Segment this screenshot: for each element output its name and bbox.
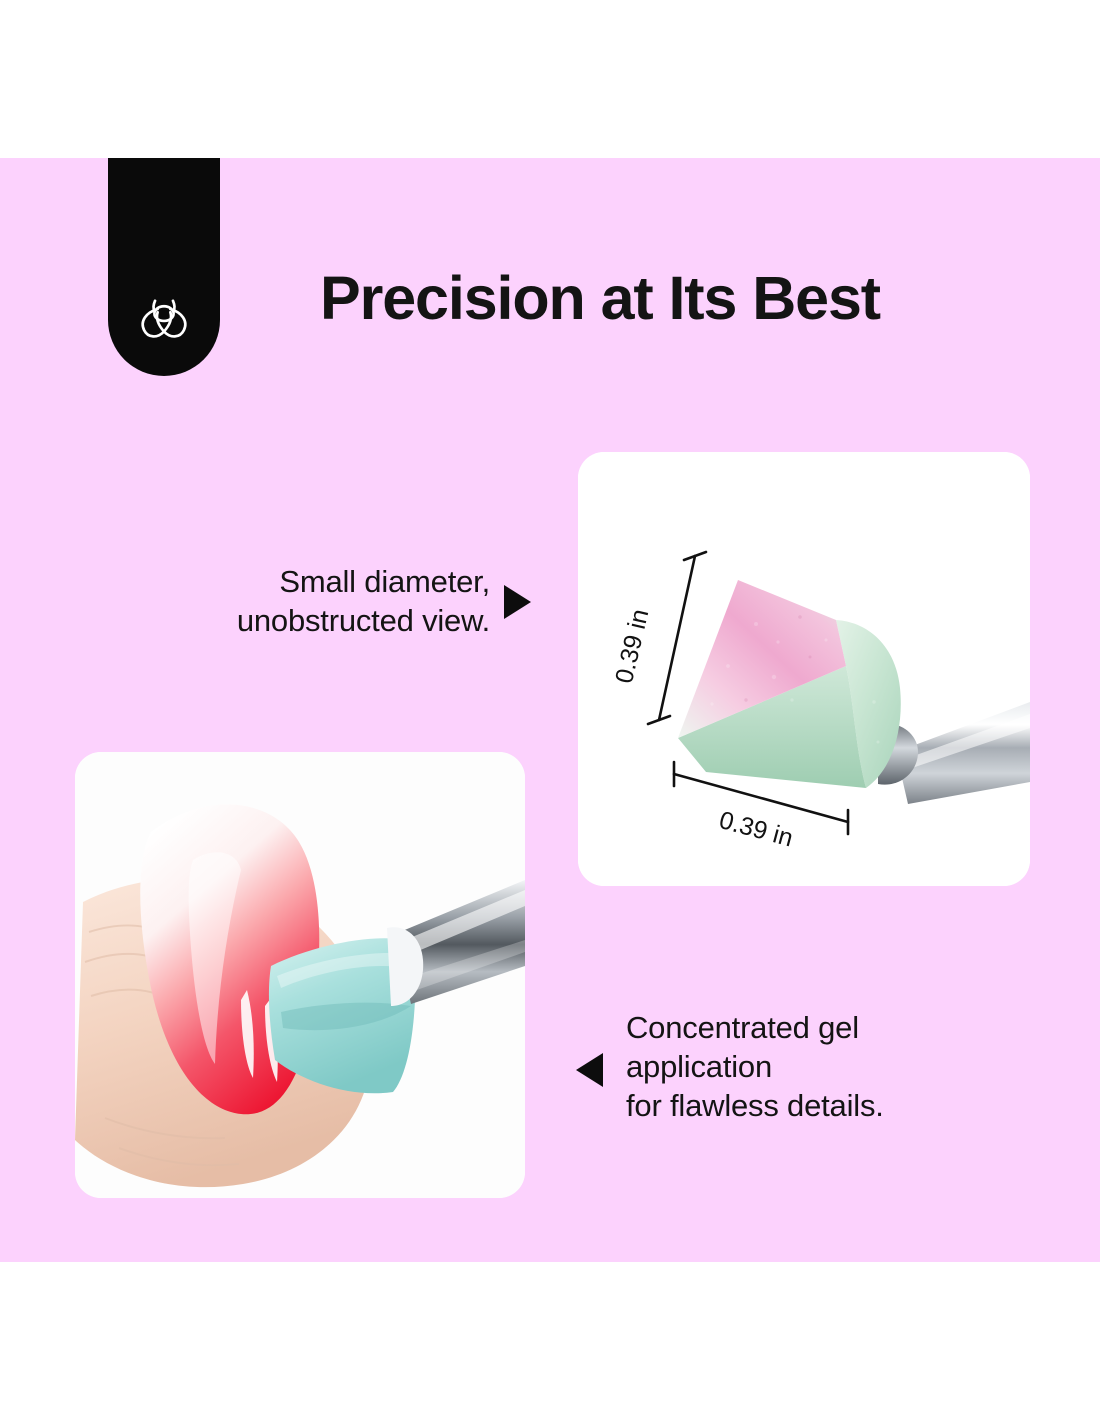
triangle-right-icon bbox=[504, 585, 531, 619]
pink-background-panel: Precision at Its Best bbox=[0, 158, 1100, 1262]
triangle-left-icon bbox=[576, 1053, 603, 1087]
callout-small-diameter: Small diameter, unobstructed view. bbox=[120, 562, 490, 640]
page-title: Precision at Its Best bbox=[320, 266, 1020, 330]
sponge-tip-illustration: 0.39 in 0.39 in bbox=[578, 452, 1030, 886]
callout-concentrated-gel-line1: Concentrated gel bbox=[626, 1008, 976, 1047]
callout-concentrated-gel-line2: application bbox=[626, 1047, 976, 1086]
product-dimensions-photo-card: 0.39 in 0.39 in bbox=[578, 452, 1030, 886]
gel-application-photo-card bbox=[75, 752, 525, 1198]
brand-logo-tab bbox=[108, 158, 220, 376]
nail-application-illustration bbox=[75, 752, 525, 1198]
callout-concentrated-gel: Concentrated gel application for flawles… bbox=[626, 1008, 976, 1125]
callout-small-diameter-line2: unobstructed view. bbox=[120, 601, 490, 640]
butterfly-loops-logo-icon bbox=[132, 288, 196, 352]
callout-concentrated-gel-line3: for flawless details. bbox=[626, 1086, 976, 1125]
callout-small-diameter-line1: Small diameter, bbox=[120, 562, 490, 601]
